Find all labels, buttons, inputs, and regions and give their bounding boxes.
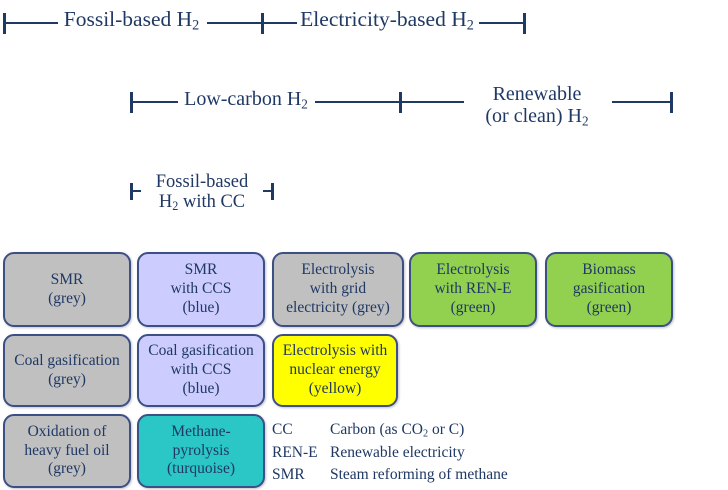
box-line-1: Biomass xyxy=(573,261,645,280)
box-line-1: Electrolysis with xyxy=(283,342,388,361)
box-line-3: (yellow) xyxy=(283,380,388,399)
box-biomass-gasification-green[interactable]: Biomass gasification (green) xyxy=(545,252,673,327)
box-line-1: SMR xyxy=(171,261,232,280)
box-line-2: (grey) xyxy=(48,290,86,309)
box-line-2: with CCS xyxy=(171,280,232,299)
box-line-2: gasification xyxy=(573,280,645,299)
legend-abbr: REN-E xyxy=(272,442,330,464)
bracket-label-low-carbon: Low-carbon H2 xyxy=(178,89,314,112)
box-electrolysis-grid-grey[interactable]: Electrolysis with grid electricity (grey… xyxy=(272,252,404,327)
abbreviation-legend: CC Carbon (as CO2 or C) REN-E Renewable … xyxy=(272,419,508,486)
bracket-label-renewable: Renewable (or clean) H2 xyxy=(464,84,610,128)
legend-desc: Carbon (as CO2 or C) xyxy=(330,419,464,442)
box-methane-pyrolysis-turquoise[interactable]: Methane- pyrolysis (turquoise) xyxy=(137,414,265,488)
bracket-line-electricity-left xyxy=(264,22,297,24)
bracket-line-electricity-right xyxy=(479,22,524,24)
box-line-3: (blue) xyxy=(148,380,253,399)
box-oxidation-heavy-fuel-oil-grey[interactable]: Oxidation of heavy fuel oil (grey) xyxy=(3,414,131,488)
bracket-tick-right-renewable xyxy=(670,92,673,113)
box-electrolysis-nuclear-yellow[interactable]: Electrolysis with nuclear energy (yellow… xyxy=(272,334,398,407)
box-line-3: (green) xyxy=(434,299,511,318)
legend-item: CC Carbon (as CO2 or C) xyxy=(272,419,508,442)
legend-abbr: CC xyxy=(272,419,330,442)
bracket-tick-right-fossil-cc xyxy=(271,183,274,200)
box-electrolysis-rene-green[interactable]: Electrolysis with REN-E (green) xyxy=(409,252,537,327)
box-line-2: nuclear energy xyxy=(283,361,388,380)
bracket-line-fossil-left xyxy=(5,22,58,24)
box-smr-with-ccs-blue[interactable]: SMR with CCS (blue) xyxy=(137,252,265,327)
box-line-3: (green) xyxy=(573,299,645,318)
box-line-1: Electrolysis xyxy=(286,261,390,280)
bracket-tick-right-top xyxy=(523,13,526,34)
box-line-1: Coal gasification xyxy=(14,352,119,371)
bracket-line-fossil-cc-left xyxy=(132,190,141,192)
box-line-1: SMR xyxy=(48,271,86,290)
legend-abbr: SMR xyxy=(272,464,330,486)
bracket-line-fossil-right xyxy=(207,22,261,24)
bracket-line-lowcarbon-right xyxy=(315,101,399,103)
bracket-label-fossil-with-cc: Fossil-based H2 with CC xyxy=(141,173,263,213)
legend-desc: Renewable electricity xyxy=(330,442,465,464)
box-line-3: (grey) xyxy=(24,460,109,479)
box-smr-grey[interactable]: SMR (grey) xyxy=(3,252,131,327)
box-line-2: (grey) xyxy=(14,371,119,390)
bracket-label-fossil-based: Fossil-based H2 xyxy=(58,8,205,34)
box-coal-gasification-ccs-blue[interactable]: Coal gasification with CCS (blue) xyxy=(137,334,265,407)
box-line-1: Electrolysis xyxy=(434,261,511,280)
legend-item: SMR Steam reforming of methane xyxy=(272,464,508,486)
box-line-2: heavy fuel oil xyxy=(24,442,109,461)
box-line-2: pyrolysis xyxy=(167,442,235,461)
box-line-2: with REN-E xyxy=(434,280,511,299)
box-line-2: with grid xyxy=(286,280,390,299)
legend-desc: Steam reforming of methane xyxy=(330,464,508,486)
bracket-line-renewable-right xyxy=(612,101,671,103)
legend-item: REN-E Renewable electricity xyxy=(272,442,508,464)
bracket-label-electricity-based: Electricity-based H2 xyxy=(297,8,477,34)
box-line-1: Coal gasification xyxy=(148,342,253,361)
box-line-2: with CCS xyxy=(148,361,253,380)
box-line-3: (blue) xyxy=(171,299,232,318)
bracket-line-renewable-left xyxy=(402,101,464,103)
box-coal-gasification-grey[interactable]: Coal gasification (grey) xyxy=(3,334,131,407)
box-line-1: Oxidation of xyxy=(24,423,109,442)
box-line-3: electricity (grey) xyxy=(286,299,390,318)
box-line-1: Methane- xyxy=(167,423,235,442)
box-line-3: (turquoise) xyxy=(167,460,235,479)
bracket-line-lowcarbon-left xyxy=(132,101,178,103)
